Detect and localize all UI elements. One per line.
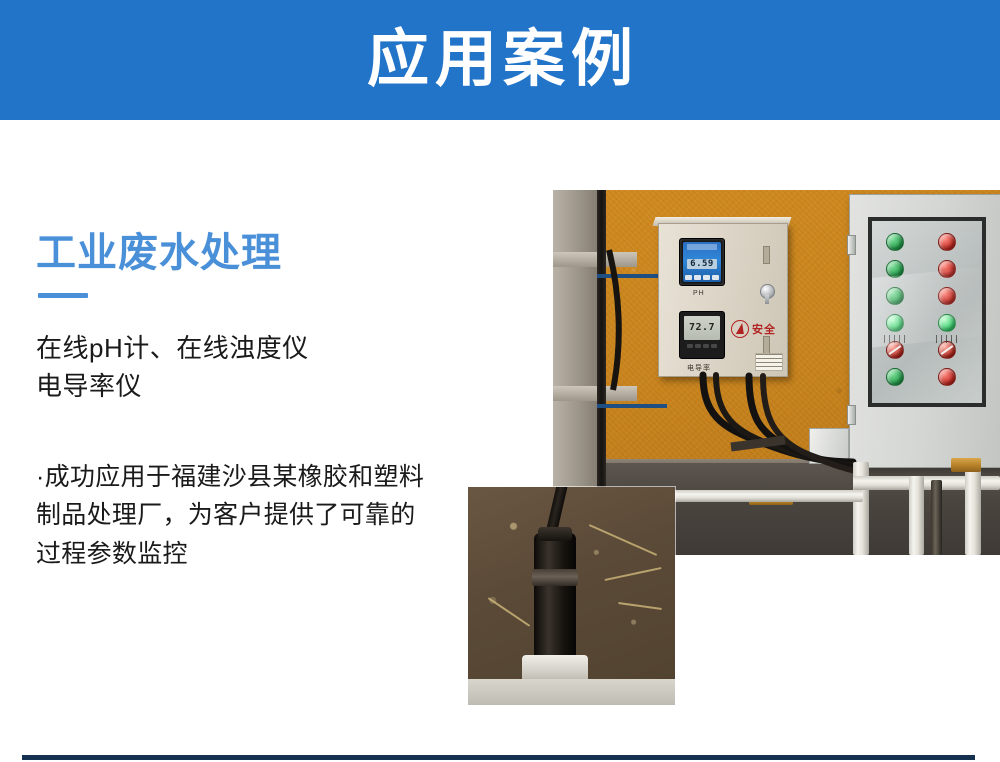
brass-fitting-1 [951, 458, 981, 472]
case-description: ·成功应用于福建沙县某橡胶和塑料制品处理厂，为客户提供了可靠的过程参数监控 [36, 458, 436, 574]
pvc-pipe-vertical-2 [909, 476, 924, 555]
page-header-banner: 应用案例 [0, 0, 1000, 120]
product-list-item-2: 电导率仪 [36, 368, 446, 406]
inset-floor-edge [468, 679, 675, 705]
heading-divider [38, 293, 88, 298]
case-photo-group: 6.59 PH 72.7 [440, 160, 1000, 720]
sensor-housing-pipe [931, 480, 942, 555]
product-list: 在线pH计、在线浊度仪 电导率仪 [36, 330, 446, 405]
product-list-item-1: 在线pH计、在线浊度仪 [36, 330, 446, 368]
pvc-pipe-vertical-3 [965, 458, 981, 555]
sensor-probe-body [534, 533, 576, 673]
sensor-probe-cap [538, 527, 572, 541]
footer-divider [22, 755, 975, 760]
pvc-pipe-horizontal-2 [673, 490, 863, 502]
case-text-column: 工业废水处理 在线pH计、在线浊度仪 电导率仪 ·成功应用于福建沙县某橡胶和塑料… [36, 232, 446, 599]
case-heading: 工业废水处理 [36, 232, 446, 275]
probe-inset-photo [468, 487, 675, 705]
page-title: 应用案例 [361, 29, 639, 91]
sensor-probe-collar [532, 569, 578, 586]
